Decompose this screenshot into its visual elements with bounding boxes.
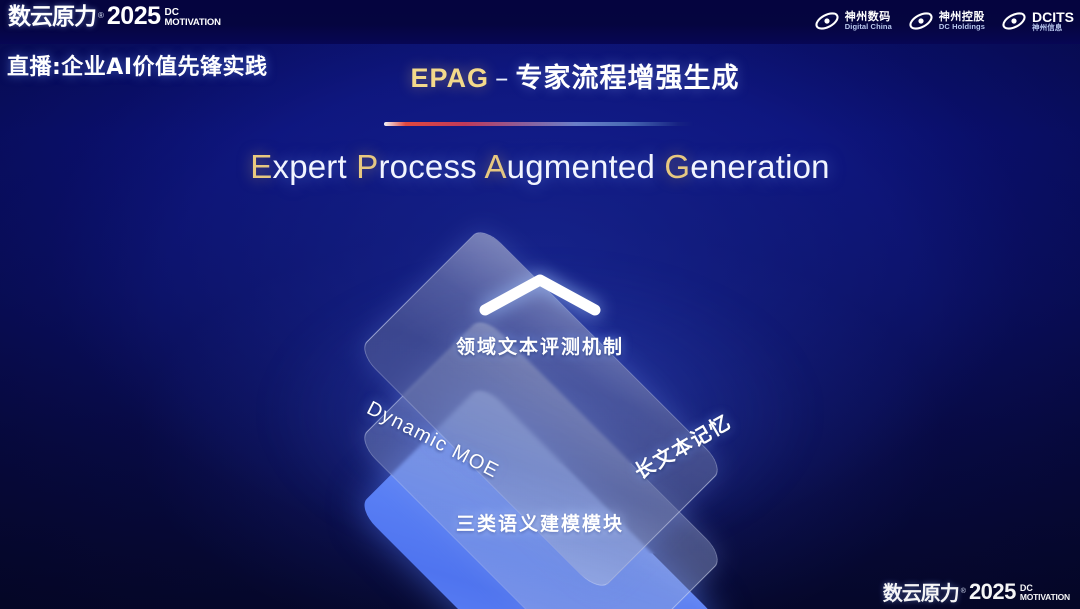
dcits-swoosh-icon — [1001, 10, 1027, 32]
subtitle-rest-generation: eneration — [690, 148, 829, 185]
brand-name-cn: 数云原力 — [8, 6, 96, 29]
footer-watermark-logo: 数云原力 ® 2025 DC MOTIVATION — [883, 581, 1070, 603]
partner-name-en: DC Holdings — [939, 23, 985, 31]
chevron-up-icon — [475, 268, 605, 318]
subtitle-rest-expert: xpert — [273, 148, 347, 185]
partner-logo-group: 神州数码 Digital China 神州控股 DC Holdings — [814, 4, 1074, 38]
partner-text: DCITS 神州信息 — [1032, 10, 1074, 33]
partner-text: 神州数码 Digital China — [845, 11, 892, 30]
presentation-slide: 数云原力 ® 2025 DC MOTIVATION 直播:企业AI价值先锋实践 … — [0, 0, 1080, 609]
partner-name-cn-secondary: 神州信息 — [1032, 24, 1074, 32]
digital-china-swoosh-icon — [814, 10, 840, 32]
title-chinese: 专家流程增强生成 — [516, 63, 740, 94]
subtitle-cap-a: A — [484, 148, 506, 185]
brand-dc-line2: MOTIVATION — [165, 18, 221, 28]
brand-logo: 数云原力 ® 2025 DC MOTIVATION — [8, 4, 221, 29]
partner-logo-digital-china: 神州数码 Digital China — [814, 10, 892, 32]
watermark-registered-mark: ® — [961, 588, 966, 595]
brand-year: 2025 — [107, 4, 161, 29]
layered-architecture-diagram: 领域文本评测机制 Dynamic MOE 长文本记忆 三类语义建模模块 — [290, 228, 790, 558]
registered-mark: ® — [98, 12, 104, 20]
layer-label-top: 领域文本评测机制 — [456, 332, 624, 359]
slide-subtitle: Expert Process Augmented Generation — [0, 148, 1080, 186]
watermark-dc-line2: MOTIVATION — [1020, 593, 1070, 602]
subtitle-cap-g: G — [664, 148, 690, 185]
live-stream-label: 直播:企业AI价值先锋实践 — [7, 49, 268, 81]
title-dash: – — [489, 63, 516, 94]
watermark-dc-motivation: DC MOTIVATION — [1020, 584, 1070, 602]
subtitle-cap-p: P — [356, 148, 378, 185]
subtitle-rest-process: rocess — [378, 148, 476, 185]
partner-logo-dcits: DCITS 神州信息 — [1001, 10, 1074, 33]
watermark-name-cn: 数云原力 — [883, 583, 959, 603]
title-acronym: EPAG — [410, 63, 489, 93]
layer-label-bottom: 三类语义建模模块 — [456, 509, 624, 536]
watermark-year: 2025 — [969, 581, 1016, 603]
brand-dc-motivation: DC MOTIVATION — [165, 8, 221, 28]
dc-holdings-swoosh-icon — [908, 10, 934, 32]
gradient-divider — [384, 122, 694, 126]
partner-logo-dc-holdings: 神州控股 DC Holdings — [908, 10, 985, 32]
partner-text: 神州控股 DC Holdings — [939, 11, 985, 30]
partner-name-en: Digital China — [845, 23, 892, 31]
subtitle-rest-augmented: ugmented — [507, 148, 655, 185]
subtitle-cap-e: E — [250, 148, 272, 185]
